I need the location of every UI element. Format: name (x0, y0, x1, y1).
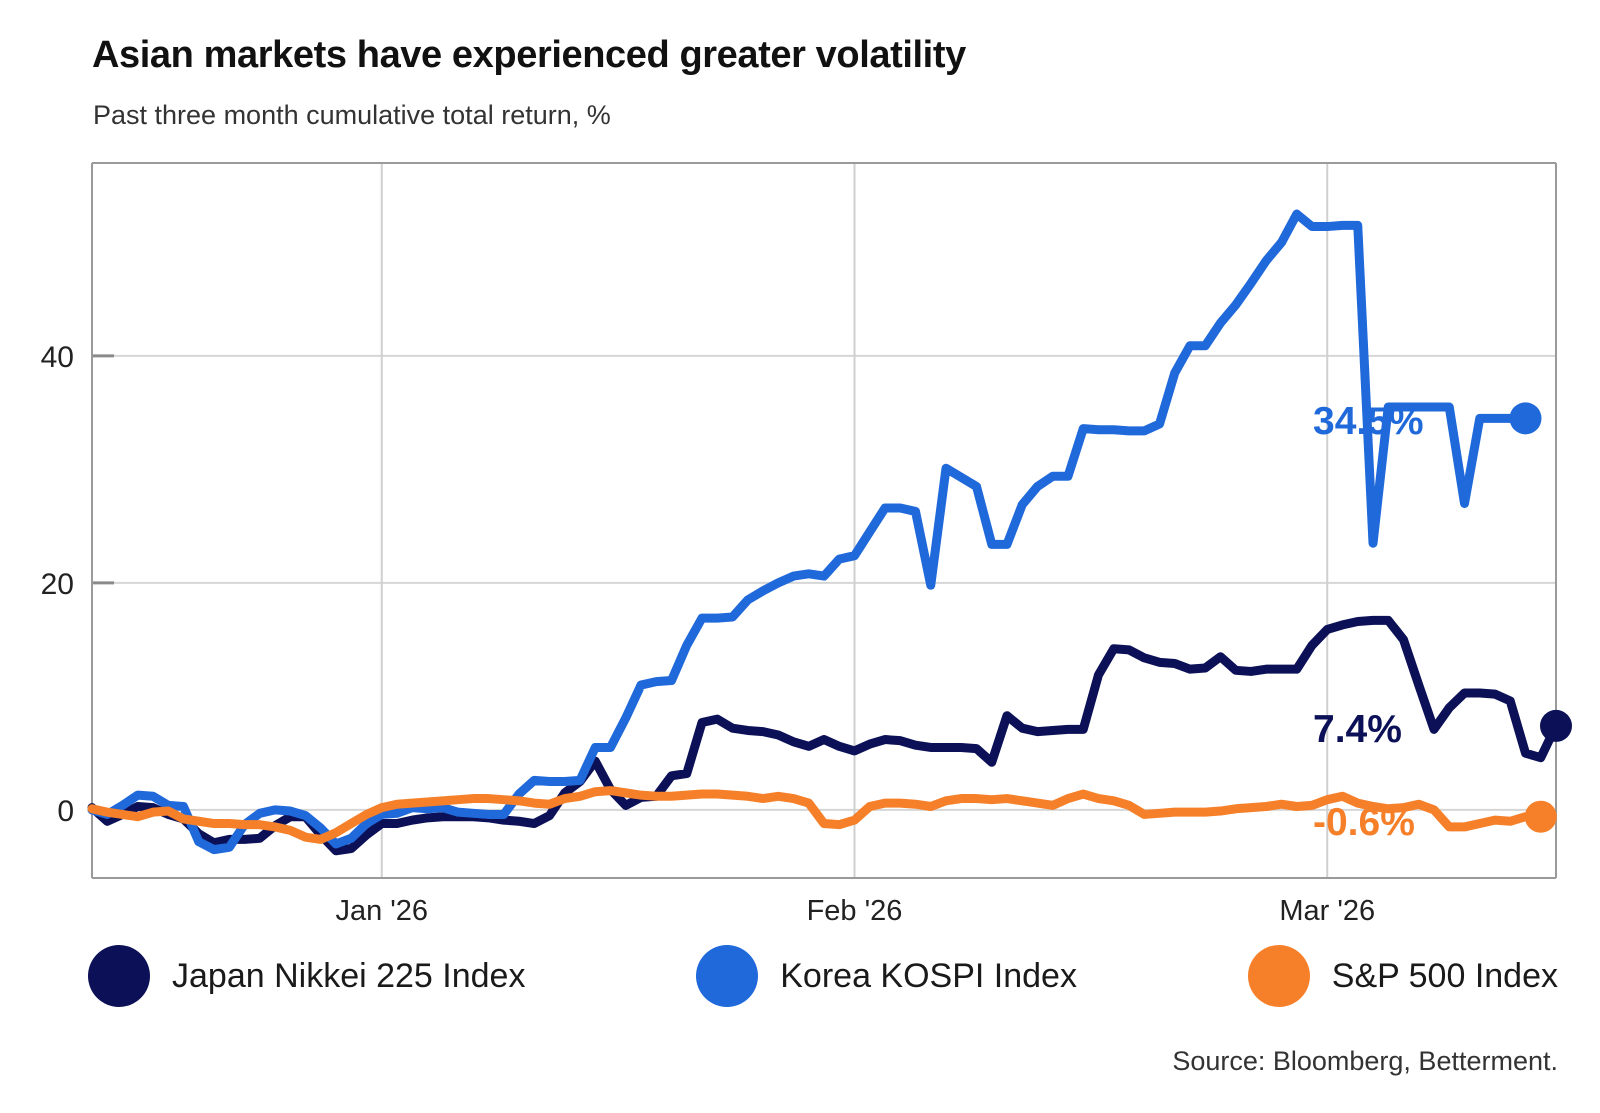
end-label-2: -0.6% (1313, 801, 1415, 844)
x-tick-label: Mar '26 (1279, 895, 1375, 927)
legend-item-japan-nikkei-225-index[interactable]: Japan Nikkei 225 Index (88, 945, 525, 1007)
legend-label: S&P 500 Index (1332, 957, 1558, 996)
end-label-1: 7.4% (1313, 708, 1402, 751)
legend-swatch-orange (1248, 945, 1310, 1007)
legend-swatch-blue (696, 945, 758, 1007)
legend-item-sp-500-index[interactable]: S&P 500 Index (1248, 945, 1558, 1007)
legend-label: Japan Nikkei 225 Index (172, 957, 525, 996)
gridlines (92, 163, 1556, 878)
source-note: Source: Bloomberg, Betterment. (1172, 1046, 1558, 1077)
end-marker-1 (1510, 402, 1542, 434)
y-axis-tick-labels: 02040 (41, 341, 74, 828)
series-line-1 (92, 214, 1526, 850)
legend-item-korea-kospi-index[interactable]: Korea KOSPI Index (696, 945, 1077, 1007)
series-lines (92, 214, 1556, 851)
x-tick-label: Jan '26 (335, 895, 428, 927)
end-markers (1510, 402, 1573, 832)
y-tick-label: 40 (41, 341, 74, 374)
y-tick-label: 0 (57, 795, 74, 828)
end-marker-2 (1525, 801, 1557, 833)
legend-swatch-navy (88, 945, 150, 1007)
plot-frame (92, 163, 1556, 878)
chart-page: Asian markets have experienced greater v… (0, 0, 1600, 1113)
y-tick-label: 20 (41, 568, 74, 601)
end-marker-0 (1540, 710, 1572, 742)
x-axis-tick-labels: Jan '26Feb '26Mar '26 (335, 878, 1375, 927)
chart-legend: Japan Nikkei 225 Index Korea KOSPI Index… (88, 940, 1558, 1012)
end-label-0: 34.5% (1313, 400, 1424, 443)
legend-label: Korea KOSPI Index (780, 957, 1077, 996)
x-tick-label: Feb '26 (807, 895, 903, 927)
